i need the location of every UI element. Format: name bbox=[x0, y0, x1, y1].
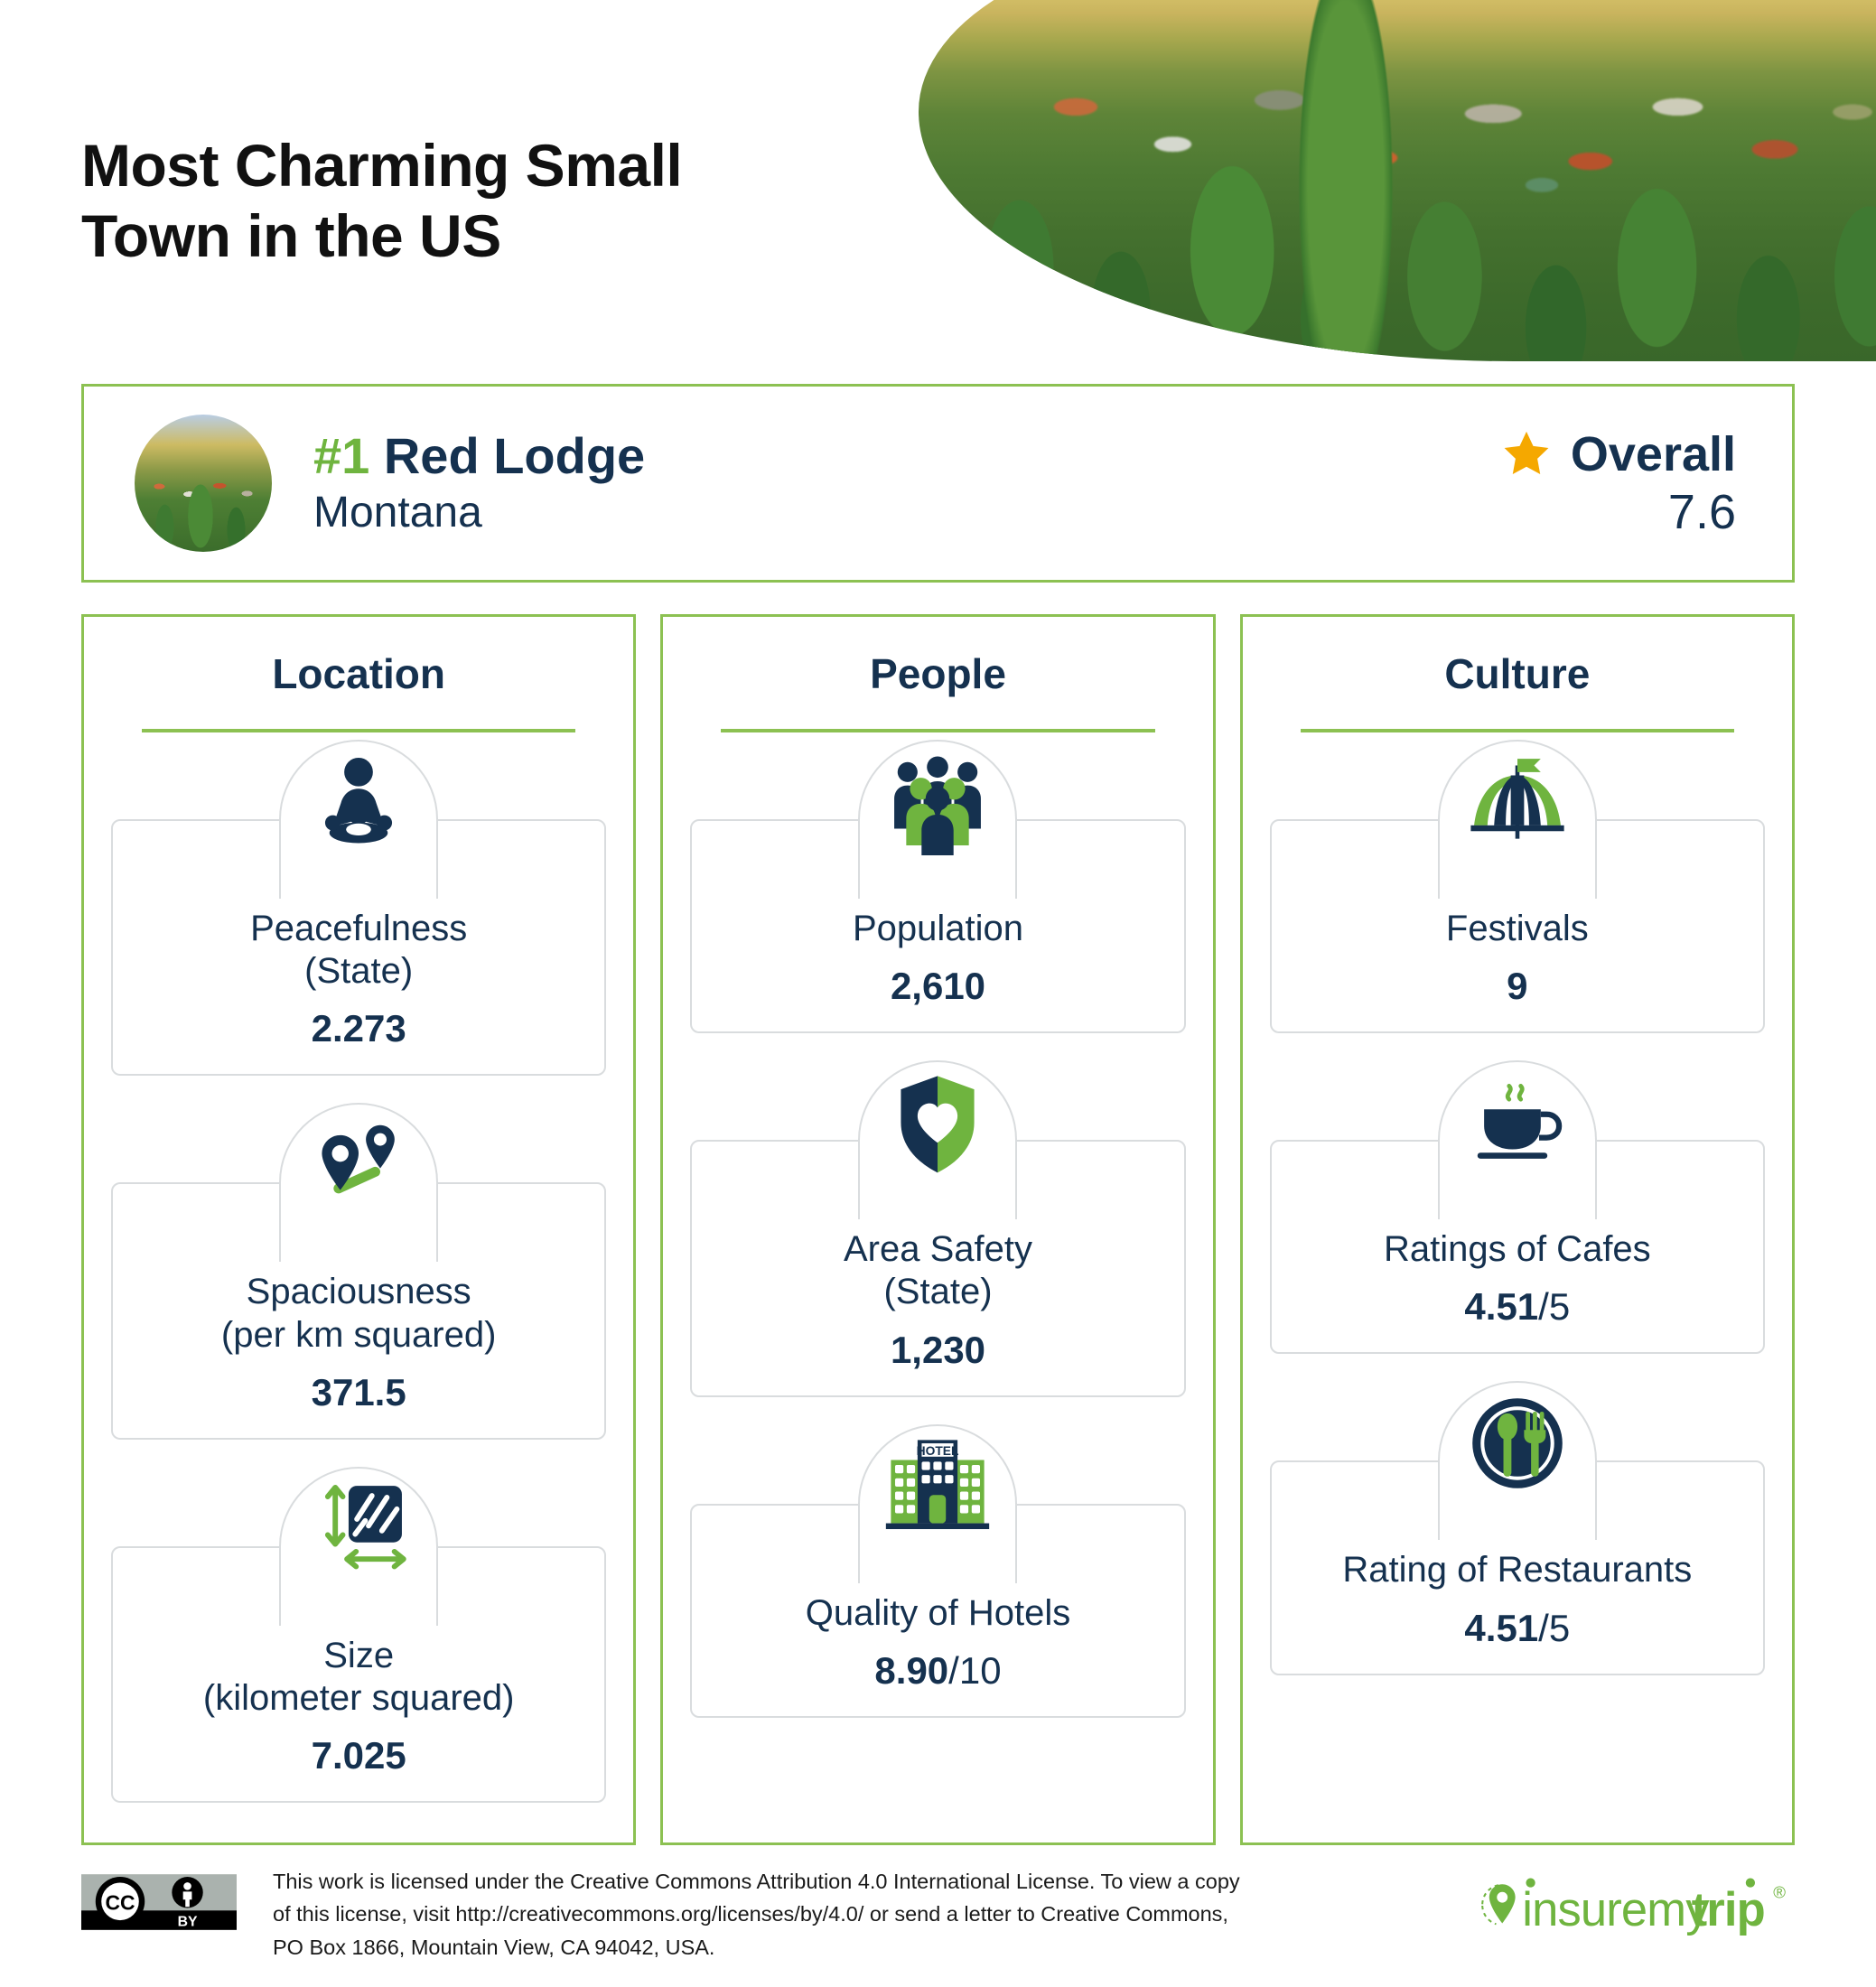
stat-value: 2,610 bbox=[710, 965, 1165, 1008]
stat-value-number: 4.51 bbox=[1464, 1607, 1538, 1649]
svg-text:HOTEL: HOTEL bbox=[917, 1443, 959, 1458]
stat-box: Rating of Restaurants 4.51/5 bbox=[1270, 1460, 1765, 1674]
column-divider bbox=[1301, 729, 1734, 732]
column-title: Culture bbox=[1270, 640, 1765, 698]
column-title: Location bbox=[111, 640, 606, 698]
map-pins-icon bbox=[305, 1112, 412, 1218]
overall-score: 7.6 bbox=[1500, 484, 1736, 540]
hero-foreground-conifer bbox=[1283, 0, 1409, 361]
stat-area-safety: Area Safety (State) 1,230 bbox=[690, 1140, 1185, 1396]
avatar-trees bbox=[135, 415, 272, 552]
stat-value: 1,230 bbox=[710, 1329, 1165, 1372]
footer: CC BY This work is licensed under the Cr… bbox=[81, 1865, 1795, 1964]
page-title-line-2: Town in the US bbox=[81, 201, 682, 272]
stats-columns: Location Peacefulness (State) bbox=[81, 614, 1795, 1845]
stat-value-number: 371.5 bbox=[312, 1371, 406, 1413]
rank-text: #1 Red Lodge Montana bbox=[313, 428, 645, 538]
coffee-cup-icon bbox=[1464, 1069, 1571, 1176]
meditation-icon bbox=[305, 749, 412, 855]
stat-box: Ratings of Cafes 4.51/5 bbox=[1270, 1140, 1765, 1354]
star-icon bbox=[1500, 428, 1553, 480]
stat-value-number: 2.273 bbox=[312, 1007, 406, 1049]
overall-label: Overall bbox=[1571, 426, 1736, 482]
stat-value: 371.5 bbox=[131, 1371, 586, 1414]
stat-value: 4.51/5 bbox=[1290, 1607, 1745, 1650]
stat-label: Population bbox=[710, 908, 1165, 950]
stat-label: Ratings of Cafes bbox=[1290, 1228, 1745, 1271]
stat-value-number: 7.025 bbox=[312, 1734, 406, 1777]
hero-image bbox=[919, 0, 1876, 361]
area-size-icon bbox=[305, 1476, 412, 1582]
stat-sublabel: (per km squared) bbox=[131, 1314, 586, 1357]
stat-value-number: 9 bbox=[1507, 965, 1527, 1007]
svg-text:BY: BY bbox=[178, 1914, 198, 1929]
svg-text:CC: CC bbox=[105, 1890, 135, 1914]
stat-population: Population 2,610 bbox=[690, 819, 1185, 1033]
avatar bbox=[135, 415, 272, 552]
stat-label: Area Safety bbox=[710, 1228, 1165, 1271]
stat-label: Festivals bbox=[1290, 908, 1745, 950]
column-divider bbox=[142, 729, 575, 732]
page-title-line-1: Most Charming Small bbox=[81, 131, 682, 201]
license-text: This work is licensed under the Creative… bbox=[273, 1865, 1257, 1964]
column-people: People Population 2,6 bbox=[660, 614, 1215, 1845]
stat-value: 8.90/10 bbox=[710, 1649, 1165, 1693]
stat-box: HOTEL bbox=[690, 1504, 1185, 1718]
stat-quality-of-hotels: HOTEL bbox=[690, 1504, 1185, 1718]
stat-value-suffix: /5 bbox=[1538, 1285, 1570, 1328]
svg-text:insuremy: insuremy bbox=[1522, 1883, 1710, 1936]
stat-value: 9 bbox=[1290, 965, 1745, 1008]
column-location: Location Peacefulness (State) bbox=[81, 614, 636, 1845]
plate-cutlery-icon bbox=[1464, 1390, 1571, 1497]
overall-score-block: Overall 7.6 bbox=[1500, 426, 1756, 540]
svg-text:trip: trip bbox=[1692, 1883, 1765, 1936]
stat-label: Quality of Hotels bbox=[710, 1592, 1165, 1635]
stat-box: Festivals 9 bbox=[1270, 819, 1765, 1033]
header: Most Charming Small Town in the US bbox=[0, 0, 1876, 379]
stat-ratings-of-cafes: Ratings of Cafes 4.51/5 bbox=[1270, 1140, 1765, 1354]
creative-commons-by-badge: CC BY bbox=[81, 1865, 237, 1935]
stat-value: 2.273 bbox=[131, 1007, 586, 1050]
hotel-icon: HOTEL bbox=[884, 1433, 991, 1540]
stat-label: Peacefulness bbox=[131, 908, 586, 950]
stat-label: Spaciousness bbox=[131, 1271, 586, 1313]
stat-festivals: Festivals 9 bbox=[1270, 819, 1765, 1033]
page-title: Most Charming Small Town in the US bbox=[81, 131, 682, 272]
stat-rating-of-restaurants: Rating of Restaurants 4.51/5 bbox=[1270, 1460, 1765, 1674]
stat-peacefulness: Peacefulness (State) 2.273 bbox=[111, 819, 606, 1076]
stat-value-suffix: /5 bbox=[1538, 1607, 1570, 1649]
stat-value-suffix: /10 bbox=[948, 1649, 1001, 1692]
rank-card: #1 Red Lodge Montana Overall 7.6 bbox=[81, 384, 1795, 583]
stat-value-number: 4.51 bbox=[1464, 1285, 1538, 1328]
column-culture: Culture Festivals bbox=[1240, 614, 1795, 1845]
stat-sublabel: (State) bbox=[710, 1271, 1165, 1313]
stat-sublabel: (kilometer squared) bbox=[131, 1677, 586, 1720]
stat-value-number: 1,230 bbox=[891, 1329, 985, 1371]
city-name: Red Lodge bbox=[384, 427, 645, 484]
stat-spaciousness: Spaciousness (per km squared) 371.5 bbox=[111, 1182, 606, 1439]
stat-value: 7.025 bbox=[131, 1734, 586, 1777]
festival-tent-icon bbox=[1464, 749, 1571, 855]
stat-value: 4.51/5 bbox=[1290, 1285, 1745, 1329]
stat-value-number: 8.90 bbox=[874, 1649, 948, 1692]
column-title: People bbox=[690, 640, 1185, 698]
rank-headline: #1 Red Lodge bbox=[313, 428, 645, 485]
stat-box: Population 2,610 bbox=[690, 819, 1185, 1033]
column-divider bbox=[721, 729, 1154, 732]
stat-label: Size bbox=[131, 1635, 586, 1677]
state-name: Montana bbox=[313, 487, 645, 539]
people-group-icon bbox=[884, 749, 991, 855]
stat-label: Rating of Restaurants bbox=[1290, 1549, 1745, 1591]
svg-text:®: ® bbox=[1773, 1882, 1786, 1901]
shield-heart-icon bbox=[884, 1069, 991, 1176]
rank-number: #1 bbox=[313, 427, 369, 484]
stat-sublabel: (State) bbox=[131, 950, 586, 993]
stat-size: Size (kilometer squared) 7.025 bbox=[111, 1546, 606, 1803]
insuremytrip-logo[interactable]: insuremy trip ® bbox=[1473, 1865, 1795, 1941]
stat-value-number: 2,610 bbox=[891, 965, 985, 1007]
